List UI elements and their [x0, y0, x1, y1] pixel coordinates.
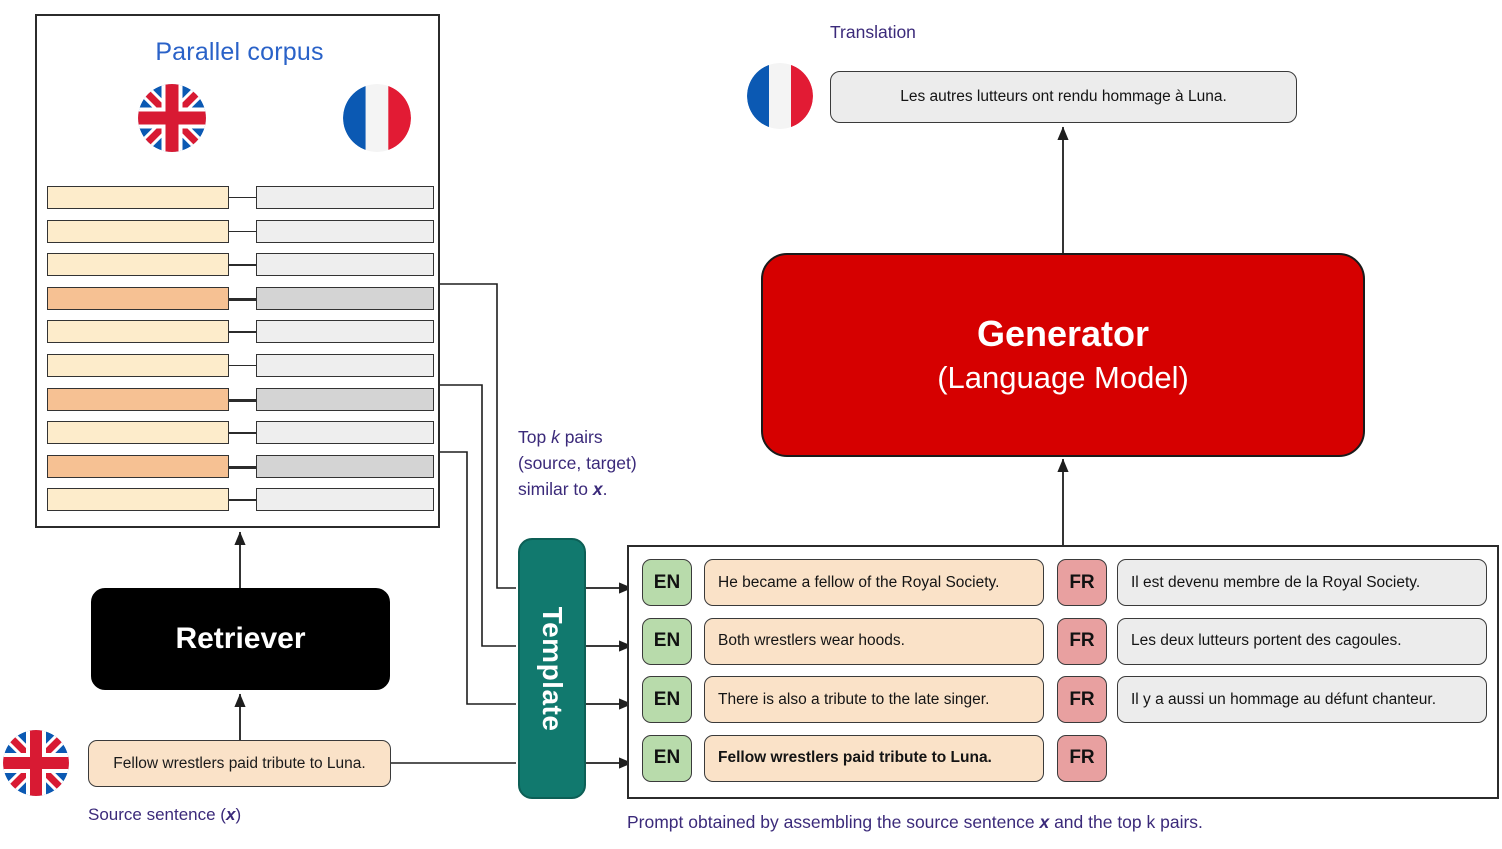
- corpus-pair-link: [229, 298, 256, 301]
- prompt-panel: ENHe became a fellow of the Royal Societ…: [627, 545, 1499, 799]
- corpus-row: [37, 421, 442, 445]
- corpus-row: [37, 287, 442, 311]
- france-flag-icon-output: [747, 63, 813, 129]
- prompt-row: ENFellow wrestlers paid tribute to Luna.…: [629, 735, 1501, 788]
- template-label: Template: [536, 606, 568, 731]
- corpus-target-cell: [256, 253, 434, 276]
- corpus-target-cell: [256, 354, 434, 377]
- corpus-pair-link: [229, 231, 256, 232]
- retriever-block[interactable]: Retriever: [91, 588, 390, 690]
- template-block[interactable]: Template: [518, 538, 586, 799]
- prompt-target-sentence: Il y a aussi un hommage au défunt chante…: [1117, 676, 1487, 723]
- corpus-row: [37, 253, 442, 277]
- prompt-caption-post: and the top k pairs.: [1049, 812, 1203, 832]
- prompt-source-sentence: He became a fellow of the Royal Society.: [704, 559, 1044, 606]
- corpus-source-cell: [47, 421, 229, 444]
- corpus-source-cell: [47, 253, 229, 276]
- corpus-source-cell: [47, 320, 229, 343]
- source-sentence-box[interactable]: Fellow wrestlers paid tribute to Luna.: [88, 740, 391, 787]
- corpus-target-cell: [256, 388, 434, 411]
- prompt-en-badge: EN: [642, 735, 692, 782]
- corpus-row: [37, 320, 442, 344]
- prompt-fr-badge: FR: [1057, 618, 1107, 665]
- generator-subtitle: (Language Model): [937, 357, 1189, 399]
- topk-note: Top k pairs (source, target) similar to …: [518, 424, 688, 502]
- uk-flag-icon-source: [3, 730, 69, 796]
- translation-output-text: Les autres lutteurs ont rendu hommage à …: [900, 88, 1227, 106]
- prompt-source-sentence: Both wrestlers wear hoods.: [704, 618, 1044, 665]
- corpus-row: [37, 388, 442, 412]
- prompt-caption-pre: Prompt obtained by assembling the source…: [627, 812, 1039, 832]
- source-sentence-text: Fellow wrestlers paid tribute to Luna.: [113, 755, 365, 773]
- topk-line1-variable: k: [551, 427, 560, 447]
- source-caption-suffix: ): [235, 805, 241, 824]
- corpus-target-cell: [256, 287, 434, 310]
- corpus-source-cell: [47, 287, 229, 310]
- corpus-source-cell: [47, 455, 229, 478]
- corpus-row: [37, 354, 442, 378]
- prompt-caption-variable: x: [1039, 812, 1049, 832]
- prompt-fr-badge: FR: [1057, 559, 1107, 606]
- corpus-row: [37, 488, 442, 512]
- corpus-target-cell: [256, 421, 434, 444]
- topk-line3-pre: similar to: [518, 479, 593, 499]
- corpus-target-cell: [256, 186, 434, 209]
- prompt-en-badge: EN: [642, 618, 692, 665]
- corpus-row: [37, 186, 442, 210]
- wire-pair-3: [433, 452, 516, 704]
- wire-pair-2: [433, 385, 516, 646]
- source-sentence-caption: Source sentence (x): [88, 805, 241, 825]
- corpus-pair-link: [229, 499, 256, 500]
- parallel-corpus-title: Parallel corpus: [37, 38, 442, 67]
- generator-block[interactable]: Generator (Language Model): [761, 253, 1365, 457]
- prompt-row: ENHe became a fellow of the Royal Societ…: [629, 559, 1501, 612]
- corpus-pair-link: [229, 331, 256, 332]
- corpus-pair-link: [229, 399, 256, 402]
- prompt-caption: Prompt obtained by assembling the source…: [627, 812, 1203, 833]
- diagram-canvas: Parallel corpus: [0, 0, 1502, 849]
- topk-line2: (source, target): [518, 453, 637, 473]
- translation-caption: Translation: [830, 22, 916, 43]
- corpus-target-cell: [256, 488, 434, 511]
- corpus-source-cell: [47, 220, 229, 243]
- uk-flag-icon: [138, 84, 206, 152]
- prompt-source-sentence: Fellow wrestlers paid tribute to Luna.: [704, 735, 1044, 782]
- source-caption-prefix: Source sentence (: [88, 805, 226, 824]
- corpus-pair-link: [229, 365, 256, 366]
- corpus-row: [37, 455, 442, 479]
- corpus-row: [37, 220, 442, 244]
- retriever-label: Retriever: [175, 622, 305, 656]
- generator-title: Generator: [977, 311, 1149, 357]
- corpus-source-cell: [47, 488, 229, 511]
- corpus-source-cell: [47, 186, 229, 209]
- france-flag-icon: [343, 84, 411, 152]
- corpus-pair-link: [229, 466, 256, 469]
- prompt-fr-badge: FR: [1057, 676, 1107, 723]
- prompt-source-sentence: There is also a tribute to the late sing…: [704, 676, 1044, 723]
- prompt-row: ENBoth wrestlers wear hoods.FRLes deux l…: [629, 618, 1501, 671]
- topk-line1-pre: Top: [518, 427, 551, 447]
- corpus-pair-link: [229, 432, 256, 433]
- wire-pair-1: [433, 284, 516, 588]
- corpus-target-cell: [256, 320, 434, 343]
- topk-line3-variable: x: [593, 479, 603, 499]
- prompt-row: ENThere is also a tribute to the late si…: [629, 676, 1501, 729]
- corpus-source-cell: [47, 388, 229, 411]
- prompt-fr-badge: FR: [1057, 735, 1107, 782]
- parallel-corpus-panel: Parallel corpus: [35, 14, 440, 528]
- corpus-pair-link: [229, 197, 256, 198]
- corpus-target-cell: [256, 455, 434, 478]
- corpus-source-cell: [47, 354, 229, 377]
- prompt-target-sentence: Les deux lutteurs portent des cagoules.: [1117, 618, 1487, 665]
- prompt-en-badge: EN: [642, 676, 692, 723]
- prompt-en-badge: EN: [642, 559, 692, 606]
- prompt-target-sentence: Il est devenu membre de la Royal Society…: [1117, 559, 1487, 606]
- corpus-pair-link: [229, 264, 256, 265]
- corpus-target-cell: [256, 220, 434, 243]
- topk-line3-post: .: [603, 479, 608, 499]
- topk-line1-post: pairs: [560, 427, 603, 447]
- translation-output-box: Les autres lutteurs ont rendu hommage à …: [830, 71, 1297, 123]
